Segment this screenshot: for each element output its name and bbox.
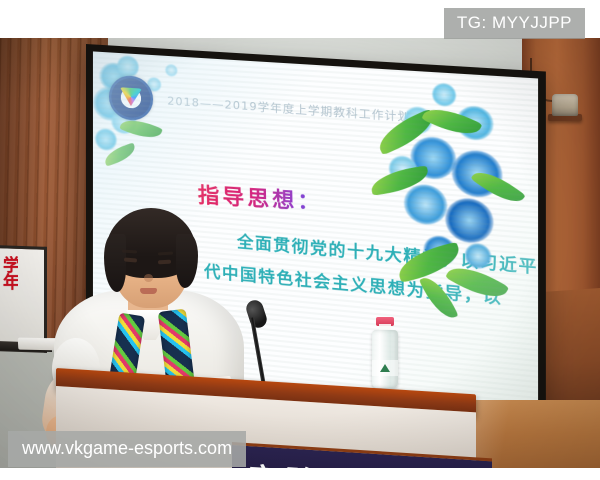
speaker-eye-right	[158, 260, 171, 265]
photo-content: 学年 2018——2019学年度上学期教科工作计划	[0, 38, 600, 468]
flower-decoration	[95, 128, 117, 152]
speaker-nose	[144, 274, 153, 282]
flower-decoration	[404, 183, 447, 226]
speaker-mouth	[140, 288, 157, 294]
watermark-bottom-left: www.vkgame-esports.com	[8, 431, 246, 467]
flower-decoration	[432, 83, 456, 108]
water-bottle	[372, 330, 398, 388]
bottle-logo-icon	[380, 364, 390, 372]
flower-decoration	[445, 197, 493, 245]
screenshot-root: 学年 2018——2019学年度上学期教科工作计划	[0, 0, 600, 480]
flower-decoration	[165, 64, 177, 77]
watermark-top-right: TG: MYYJJPP	[444, 8, 585, 39]
slide-heading: 指导思想：	[198, 179, 323, 217]
wall-speaker-icon	[552, 94, 578, 116]
slide-title: 2018——2019学年度上学期教科工作计划	[167, 92, 410, 125]
podium-plate-text: 实验小学	[248, 454, 400, 468]
red-banner-text: 学年	[2, 256, 18, 334]
